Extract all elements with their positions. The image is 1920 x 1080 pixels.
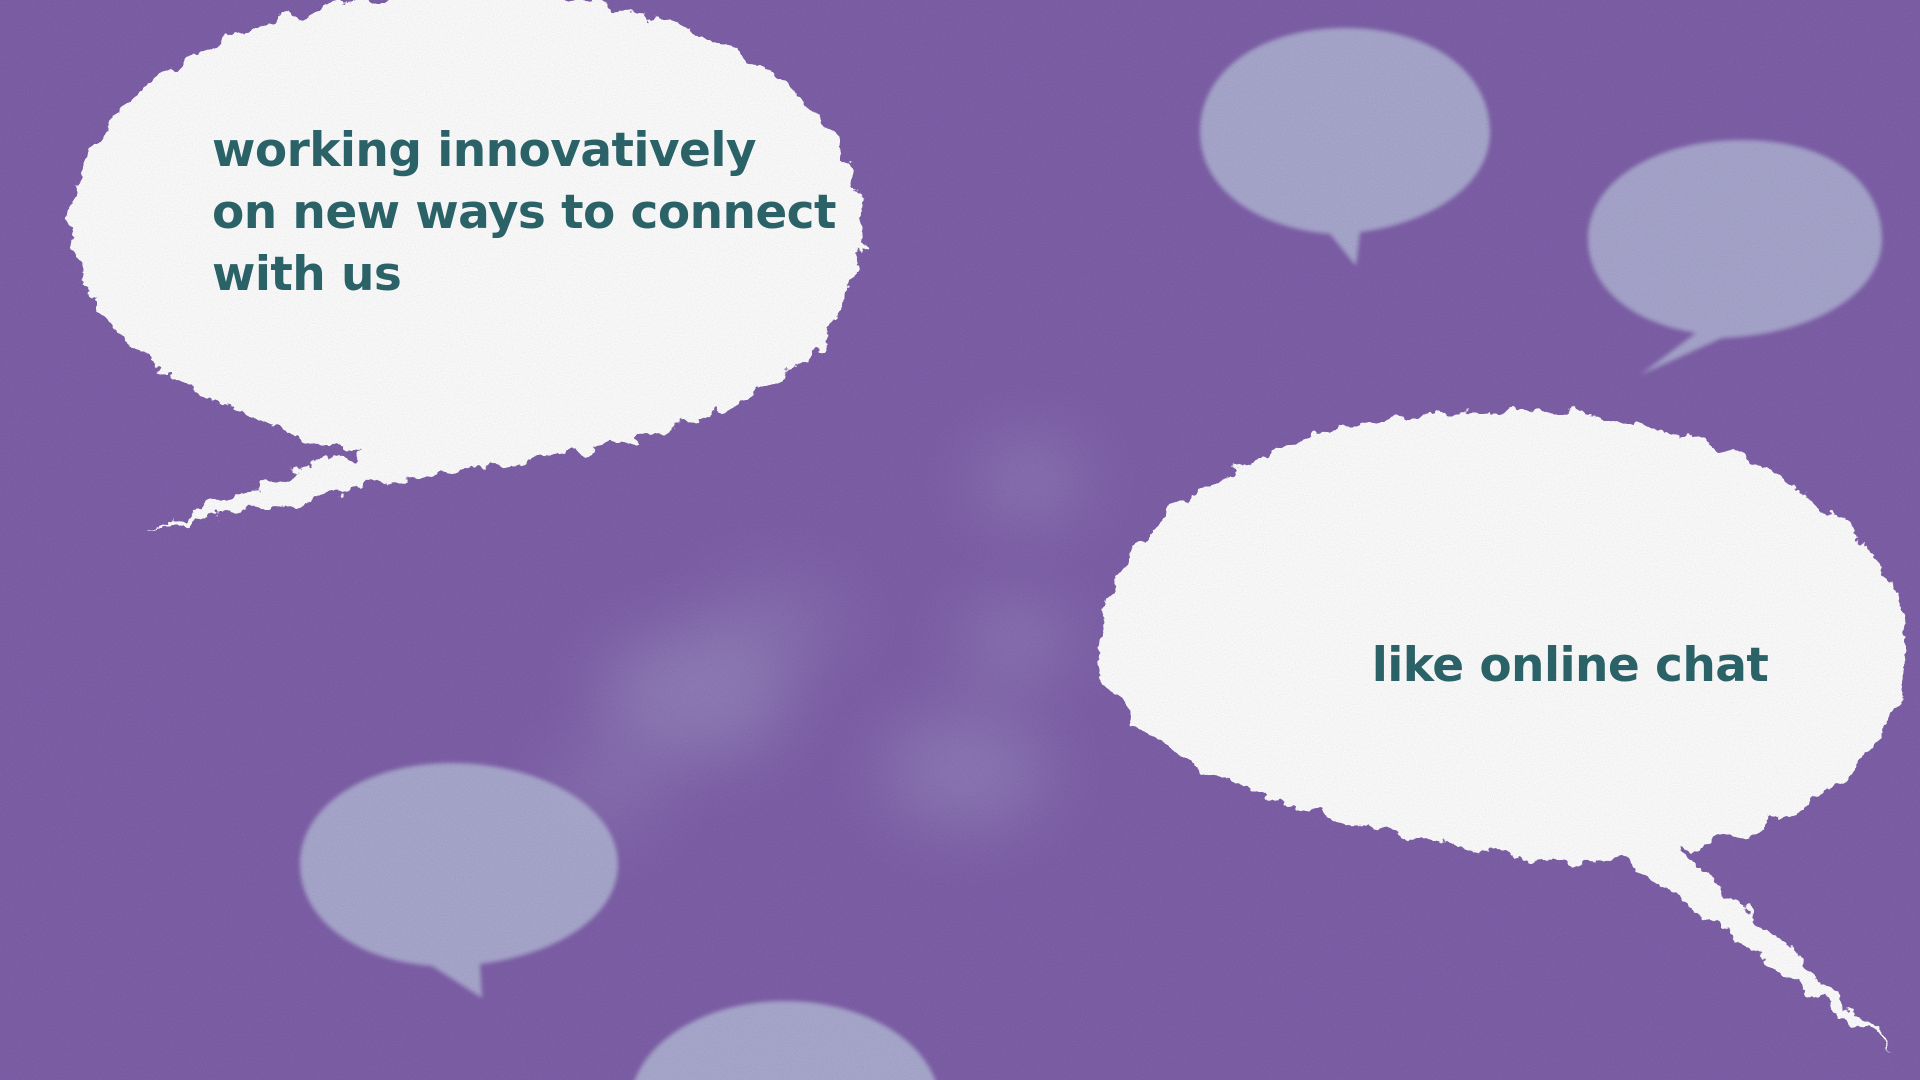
- ghost-bubble-top-right: [1570, 135, 1900, 380]
- slide-canvas: working innovatively on new ways to conn…: [0, 0, 1920, 1080]
- soft-blob-3: [960, 600, 1070, 682]
- ghost-bubble-bottom-left: [292, 758, 627, 1003]
- soft-blob-4: [880, 710, 1050, 830]
- speech-bubble-primary-text: working innovatively on new ways to conn…: [212, 120, 852, 305]
- speech-bubble-secondary: like online chat: [1060, 380, 1920, 1080]
- speech-bubble-secondary-content: like online chat: [1260, 635, 1880, 697]
- speech-bubble-primary: working innovatively on new ways to conn…: [30, 0, 900, 670]
- ghost-bubble-top-left-of-right: [1190, 22, 1500, 282]
- speech-bubble-secondary-text: like online chat: [1260, 635, 1880, 697]
- speech-bubble-secondary-shape: [1060, 380, 1920, 1080]
- speech-bubble-primary-content: working innovatively on new ways to conn…: [212, 120, 852, 305]
- ghost-bubble-bottom-center: [625, 996, 945, 1080]
- speech-bubble-primary-shape: [30, 0, 900, 670]
- soft-blob-5: [545, 745, 665, 835]
